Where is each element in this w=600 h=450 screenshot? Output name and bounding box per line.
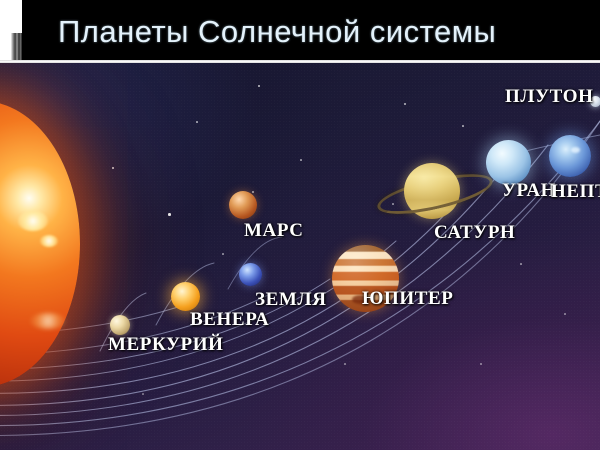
- planet-label-mercury: МЕРКУРИЙ: [108, 334, 224, 356]
- title-band: Планеты Солнечной системы: [0, 0, 600, 62]
- planet-label-uranus: УРАН: [502, 180, 556, 202]
- starfield: [0, 63, 600, 450]
- planet-label-venus: ВЕНЕРА: [190, 309, 269, 331]
- planet-label-earth: ЗЕМЛЯ: [255, 289, 327, 311]
- planet-label-jupiter: ЮПИТЕР: [362, 288, 454, 310]
- spine-bar-icon: [11, 33, 22, 62]
- presentation-slide: Планеты Солнечной системы: [0, 0, 600, 450]
- orbit-lines: [0, 63, 600, 450]
- planet-uranus: [486, 140, 531, 185]
- neptune-cloud-spot: [571, 147, 580, 153]
- planet-mercury: [110, 315, 130, 335]
- sun-flare-icon: [30, 313, 66, 329]
- sun-flare-icon: [18, 211, 48, 231]
- planet-neptune: [549, 135, 591, 177]
- planet-earth: [239, 263, 262, 286]
- planet-label-mars: МАРС: [244, 220, 304, 242]
- image-grain-overlay: [0, 63, 600, 450]
- solar-system-image: МЕРКУРИЙ ВЕНЕРА ЗЕМЛЯ МАРС ЮПИТЕР САТУРН…: [0, 63, 600, 450]
- planet-label-saturn: САТУРН: [434, 222, 515, 244]
- sun: [0, 101, 80, 387]
- page-title: Планеты Солнечной системы: [58, 14, 496, 50]
- planet-mars: [229, 191, 257, 219]
- sun-flare-icon: [40, 235, 58, 247]
- planet-label-neptune: НЕПТ: [551, 181, 600, 203]
- planet-venus: [171, 282, 200, 311]
- planet-label-pluto: ПЛУТОН: [505, 86, 593, 108]
